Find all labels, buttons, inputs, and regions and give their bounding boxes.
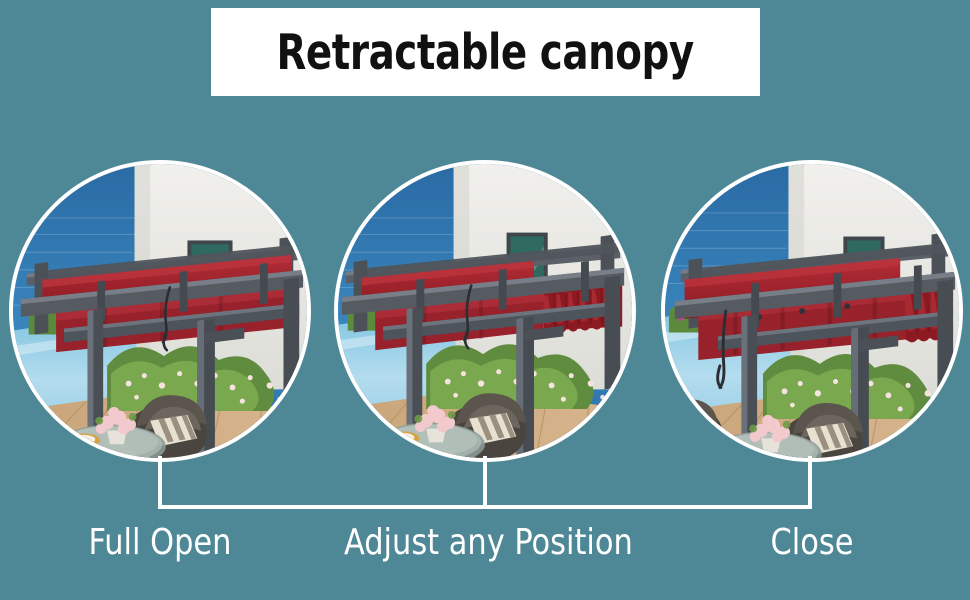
caption-close: Close (671, 522, 953, 563)
photo-circle-full-open (9, 160, 311, 462)
scene-close (665, 164, 959, 458)
infographic-root: Retractable canopy (0, 0, 970, 600)
photo-circle-close (661, 160, 963, 462)
photo-circle-adjust-any-position (334, 160, 636, 462)
scene-full-open (13, 164, 307, 458)
caption-row: Full Open Adjust any Position Close (0, 522, 970, 578)
caption-adjust-any-position: Adjust any Position (344, 522, 626, 563)
title-banner: Retractable canopy (211, 8, 760, 96)
page-title: Retractable canopy (277, 24, 694, 81)
scene-adjust-any-position (338, 164, 632, 458)
caption-full-open: Full Open (19, 522, 301, 563)
